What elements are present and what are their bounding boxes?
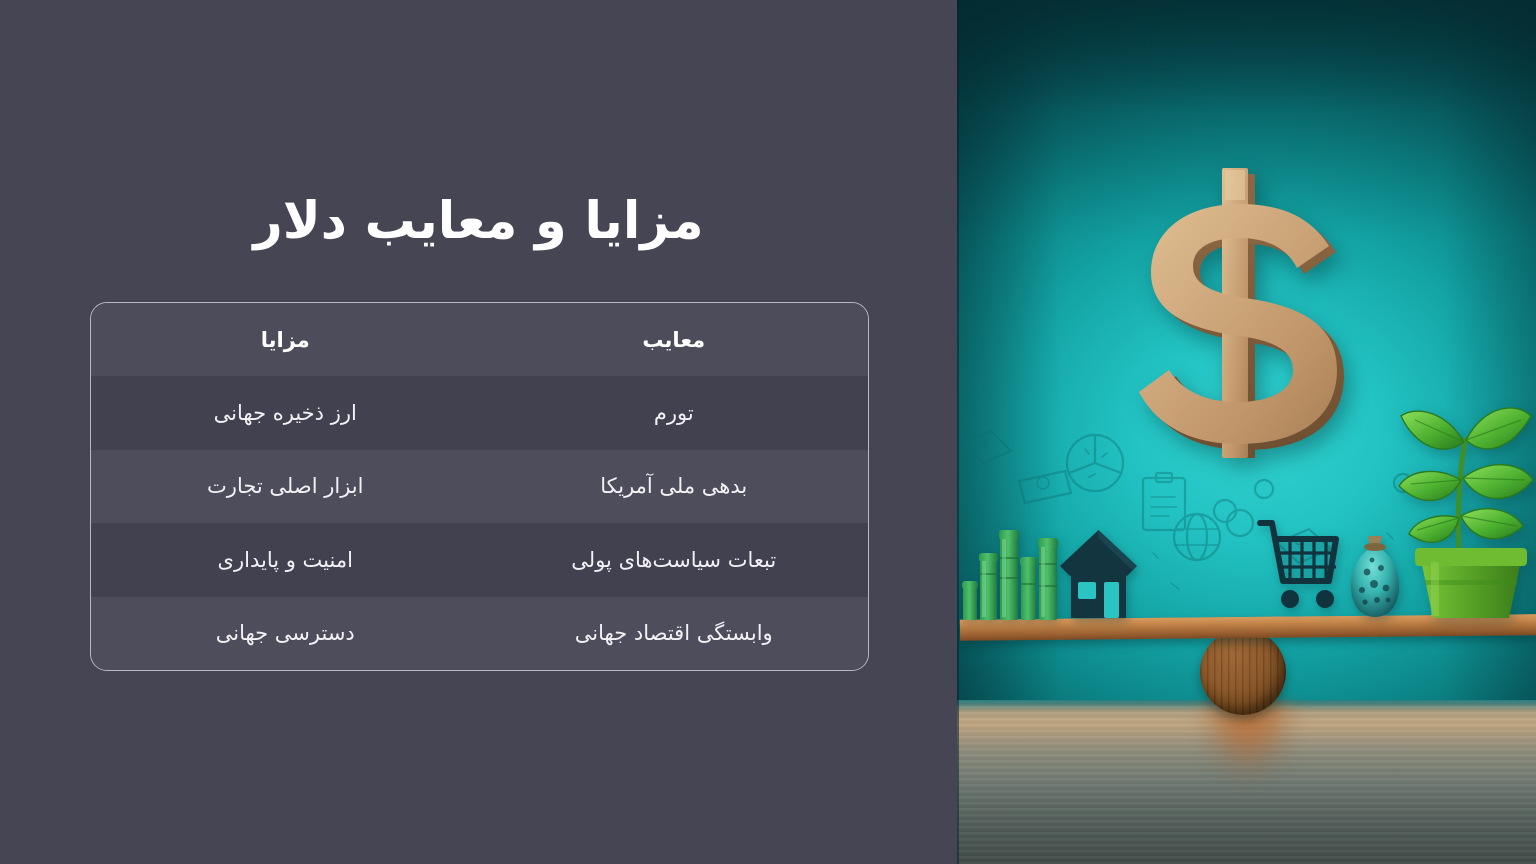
price-tag-icon <box>963 431 1011 463</box>
table-row: بدهی ملی آمریکا ابزار اصلی تجارت <box>91 450 868 524</box>
cell-pros: امنیت و پایداری <box>91 523 480 597</box>
reflective-floor <box>957 700 1536 864</box>
table-row: تورم ارز ذخیره جهانی <box>91 376 868 450</box>
shopping-cart-icon <box>1256 509 1341 619</box>
banknote-icon <box>1019 471 1071 503</box>
table-header-row: معایب مزایا <box>91 303 868 376</box>
column-header-cons: معایب <box>480 303 869 376</box>
cell-cons: وابستگی اقتصاد جهانی <box>480 597 869 671</box>
globe-icon <box>1174 514 1220 560</box>
cell-pros: ارز ذخیره جهانی <box>91 376 480 450</box>
table-row: تبعات سیاست‌های پولی امنیت و پایداری <box>91 523 868 597</box>
pie-chart-icon <box>1067 435 1123 491</box>
table-header: معایب مزایا <box>91 303 868 376</box>
pros-cons-table: معایب مزایا تورم ارز ذخیره جهانی بدهی مل… <box>90 302 869 671</box>
coin-icon <box>1255 480 1273 498</box>
table-body: تورم ارز ذخیره جهانی بدهی ملی آمریکا ابز… <box>91 376 868 670</box>
slide-root: مزایا و معایب دلار معایب مزایا تورم ارز … <box>0 0 1536 864</box>
cell-cons: تبعات سیاست‌های پولی <box>480 523 869 597</box>
content-panel: مزایا و معایب دلار معایب مزایا تورم ارز … <box>0 0 957 864</box>
column-header-pros: مزایا <box>91 303 480 376</box>
page-title: مزایا و معایب دلار <box>0 190 957 254</box>
cell-cons: تورم <box>480 376 869 450</box>
dollar-sign-icon <box>1125 168 1355 458</box>
comparison-table: معایب مزایا تورم ارز ذخیره جهانی بدهی مل… <box>91 303 868 670</box>
illustration-panel <box>957 0 1536 864</box>
house-icon <box>1058 528 1139 620</box>
cell-cons: بدهی ملی آمریکا <box>480 450 869 524</box>
fulcrum-cylinder <box>1200 629 1286 715</box>
table-row: وابستگی اقتصاد جهانی دسترسی جهانی <box>91 597 868 671</box>
panel-divider <box>957 0 959 864</box>
potted-plant-icon <box>1385 400 1536 620</box>
cell-pros: ابزار اصلی تجارت <box>91 450 480 524</box>
fulcrum-reflection <box>1188 700 1308 835</box>
money-stacks-icon <box>961 515 1071 620</box>
cell-pros: دسترسی جهانی <box>91 597 480 671</box>
